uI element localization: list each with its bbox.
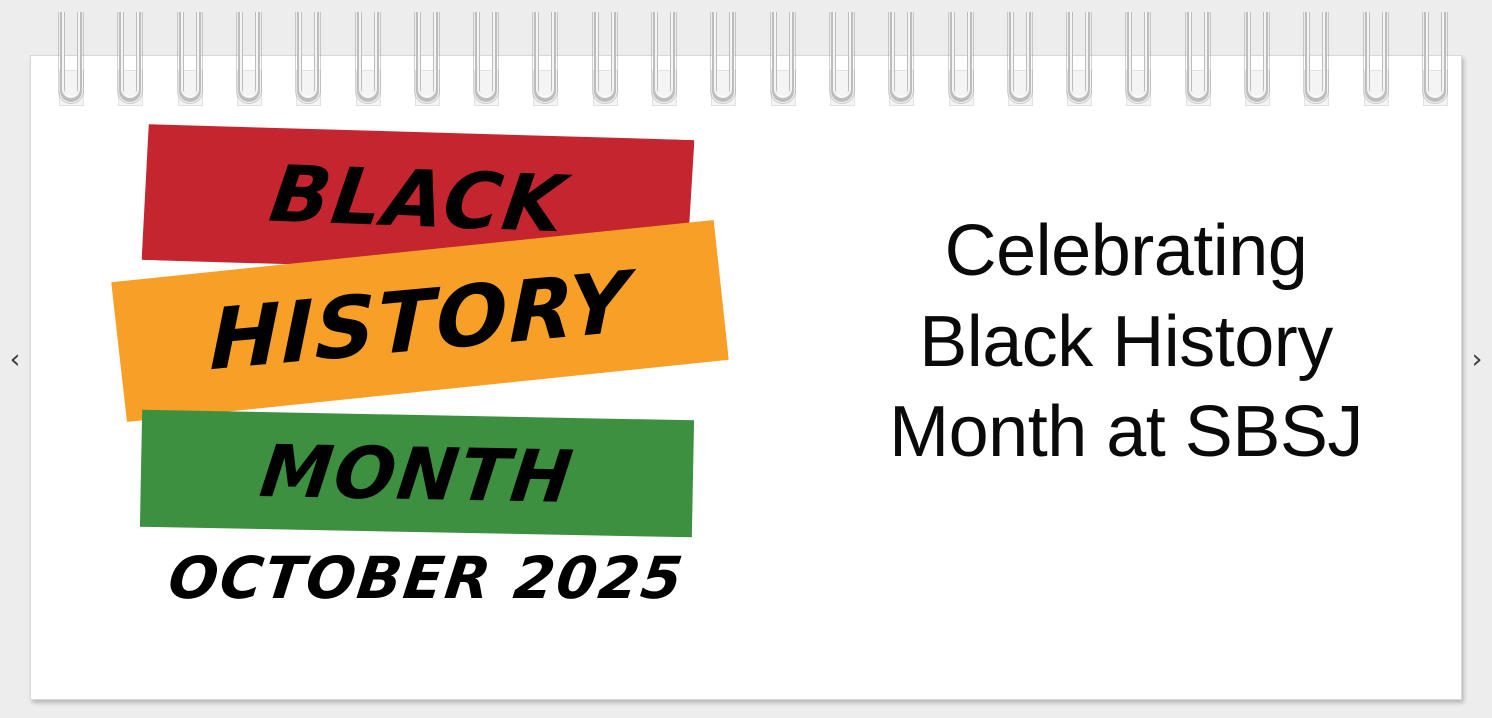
- chevron-right-icon: ›: [1472, 346, 1483, 373]
- slide-headline: Celebrating Black History Month at SBSJ: [821, 206, 1431, 478]
- logo-date-label: OCTOBER 2025: [165, 549, 687, 607]
- headline-line-3: Month at SBSJ: [821, 387, 1431, 478]
- banner-history-label: HISTORY: [209, 260, 631, 383]
- black-history-month-logo: BLACK HISTORY MONTH OCTOBER 2025: [31, 56, 791, 701]
- carousel-prev-button[interactable]: ‹: [0, 0, 30, 718]
- headline-line-2: Black History: [821, 297, 1431, 388]
- banner-month: MONTH: [140, 410, 694, 538]
- image-carousel: BLACK HISTORY MONTH OCTOBER 2025 Celebra…: [0, 0, 1492, 718]
- banner-month-label: MONTH: [256, 435, 577, 513]
- carousel-next-button[interactable]: ›: [1462, 0, 1492, 718]
- notepad-card: BLACK HISTORY MONTH OCTOBER 2025 Celebra…: [30, 55, 1462, 700]
- banner-black-label: BLACK: [265, 156, 571, 244]
- chevron-left-icon: ‹: [10, 346, 21, 373]
- headline-line-1: Celebrating: [821, 206, 1431, 297]
